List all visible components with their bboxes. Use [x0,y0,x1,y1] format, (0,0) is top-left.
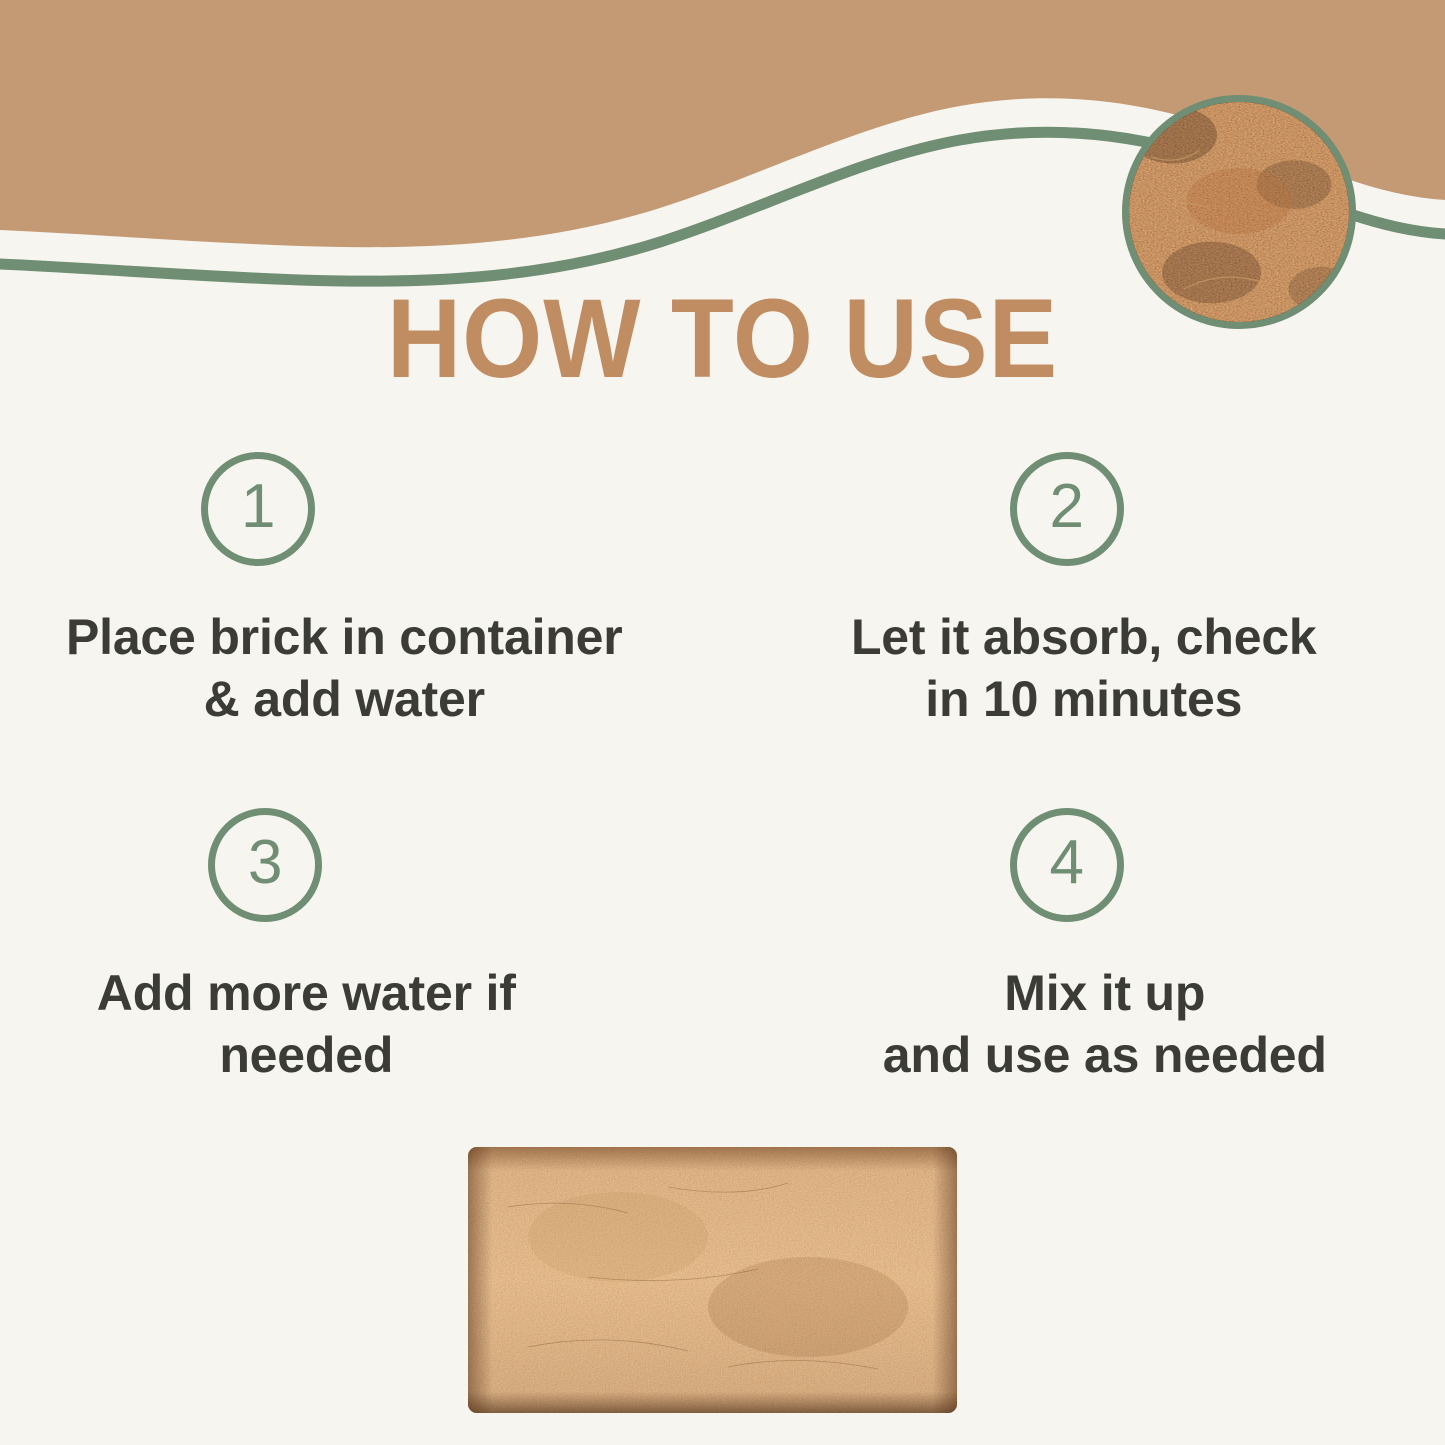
step-label-2: Let it absorb, check in 10 minutes [851,606,1317,730]
brick-texture [468,1147,957,1413]
step-number-badge-2: 2 [1010,452,1124,566]
step-item-3: 3 Add more water if needed [0,808,723,1086]
step-label-3: Add more water if needed [97,962,516,1086]
step-label-1: Place brick in container & add water [66,606,623,730]
step-number-badge-1: 1 [201,452,315,566]
step-item-1: 1 Place brick in container & add water [0,452,723,730]
step-item-2: 2 Let it absorb, check in 10 minutes [723,452,1445,730]
step-item-4: 4 Mix it up and use as needed [723,808,1445,1086]
step-number-badge-4: 4 [1010,808,1124,922]
infographic-page: HOW TO USE 1 Place brick in container & … [0,0,1445,1445]
steps-grid: 1 Place brick in container & add water 2… [0,452,1445,1086]
page-title: HOW TO USE [58,283,1387,395]
step-number-badge-3: 3 [208,808,322,922]
step-label-4: Mix it up and use as needed [883,962,1327,1086]
coir-brick-image [468,1147,957,1413]
